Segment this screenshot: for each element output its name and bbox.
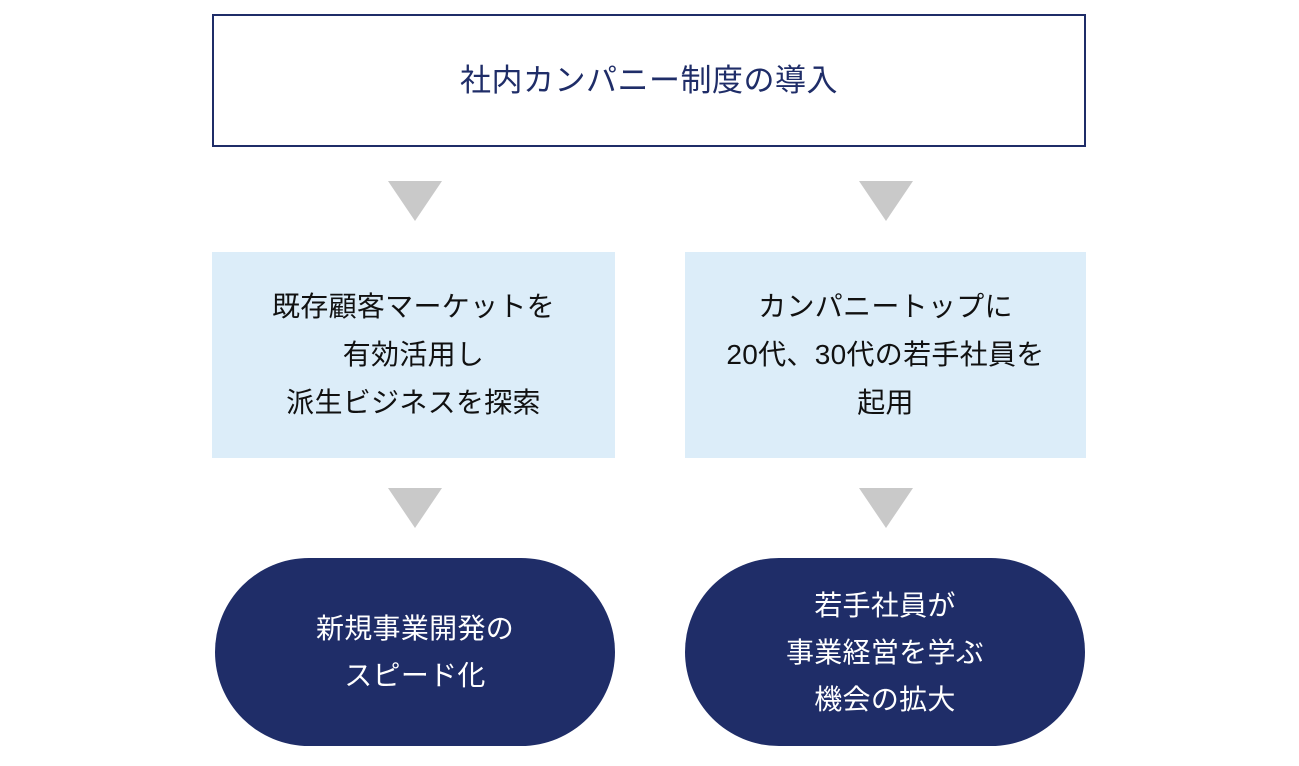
outcome-node-left-line-2: スピード化	[215, 652, 615, 699]
process-node-right-line-2: 20代、30代の若手社員を	[685, 331, 1086, 379]
process-node-left-line-3: 派生ビジネスを探索	[212, 379, 615, 427]
triangle-down-icon-root-to-left	[388, 181, 442, 221]
outcome-node-right: 若手社員が 事業経営を学ぶ 機会の拡大	[685, 558, 1085, 746]
process-node-right: カンパニートップに 20代、30代の若手社員を 起用	[685, 252, 1086, 458]
outcome-node-left-line-1: 新規事業開発の	[215, 605, 615, 652]
outcome-node-left-label: 新規事業開発の スピード化	[215, 605, 615, 699]
process-node-right-line-1: カンパニートップに	[685, 283, 1086, 331]
process-node-left-line-2: 有効活用し	[212, 331, 615, 379]
root-node-line: 社内カンパニー制度の導入	[214, 59, 1084, 103]
process-node-left: 既存顧客マーケットを 有効活用し 派生ビジネスを探索	[212, 252, 615, 458]
triangle-down-icon-right-process-to-outcome	[859, 488, 913, 528]
outcome-node-right-line-1: 若手社員が	[685, 582, 1085, 629]
process-node-left-line-1: 既存顧客マーケットを	[212, 283, 615, 331]
triangle-down-icon-root-to-right	[859, 181, 913, 221]
outcome-node-left: 新規事業開発の スピード化	[215, 558, 615, 746]
root-node-company-system: 社内カンパニー制度の導入	[212, 14, 1086, 147]
process-node-right-line-3: 起用	[685, 379, 1086, 427]
outcome-node-right-label: 若手社員が 事業経営を学ぶ 機会の拡大	[685, 582, 1085, 723]
root-node-label: 社内カンパニー制度の導入	[214, 59, 1084, 103]
triangle-down-icon-left-process-to-outcome	[388, 488, 442, 528]
outcome-node-right-line-3: 機会の拡大	[685, 676, 1085, 723]
diagram-canvas: 社内カンパニー制度の導入 既存顧客マーケットを 有効活用し 派生ビジネスを探索 …	[0, 0, 1299, 766]
process-node-left-label: 既存顧客マーケットを 有効活用し 派生ビジネスを探索	[212, 283, 615, 427]
process-node-right-label: カンパニートップに 20代、30代の若手社員を 起用	[685, 283, 1086, 427]
outcome-node-right-line-2: 事業経営を学ぶ	[685, 629, 1085, 676]
